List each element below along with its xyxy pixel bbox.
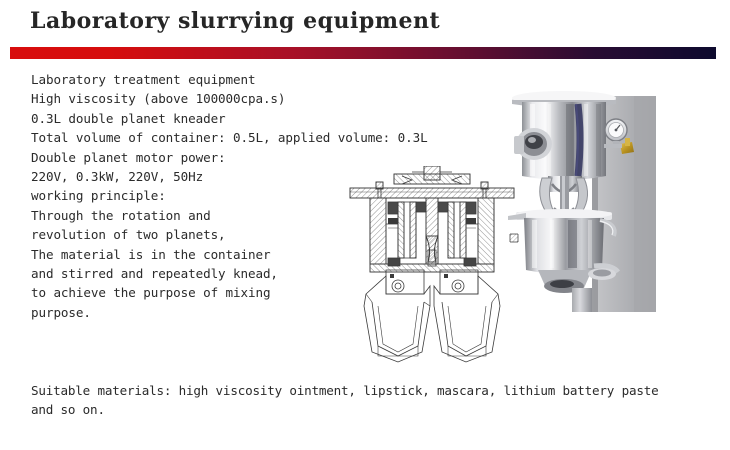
spec-line: The material is in the container bbox=[31, 245, 391, 264]
gradient-divider bbox=[10, 44, 716, 56]
spec-line: 0.3L double planet kneader bbox=[31, 109, 391, 128]
spec-line: Total volume of container: 0.5L, applied… bbox=[31, 128, 391, 147]
equipment-photo bbox=[508, 60, 656, 312]
spec-line: 220V, 0.3kW, 220V, 50Hz bbox=[31, 167, 391, 186]
spec-line: revolution of two planets, bbox=[31, 225, 391, 244]
spec-line: Laboratory treatment equipment bbox=[31, 70, 391, 89]
spec-line: purpose. bbox=[31, 303, 391, 322]
spec-line: and stirred and repeatedly knead, bbox=[31, 264, 391, 283]
note-line: and so on. bbox=[31, 400, 711, 419]
page-title-text: Laboratory slurrying equipment bbox=[30, 8, 440, 34]
spec-line: High viscosity (above 100000cpa.s) bbox=[31, 89, 391, 108]
slide-canvas: Laboratory slurrying equipment Laborator… bbox=[0, 0, 730, 450]
spec-line: Through the rotation and bbox=[31, 206, 391, 225]
suitable-materials-note: Suitable materials: high viscosity ointm… bbox=[31, 381, 711, 420]
note-line: Suitable materials: high viscosity ointm… bbox=[31, 381, 711, 400]
page-title: Laboratory slurrying equipment bbox=[30, 4, 690, 38]
specification-list: Laboratory treatment equipment High visc… bbox=[31, 70, 391, 322]
spec-line: to achieve the purpose of mixing bbox=[31, 283, 391, 302]
spec-line: Double planet motor power: bbox=[31, 148, 391, 167]
spec-line: working principle: bbox=[31, 186, 391, 205]
kneader-diagram bbox=[342, 166, 522, 366]
